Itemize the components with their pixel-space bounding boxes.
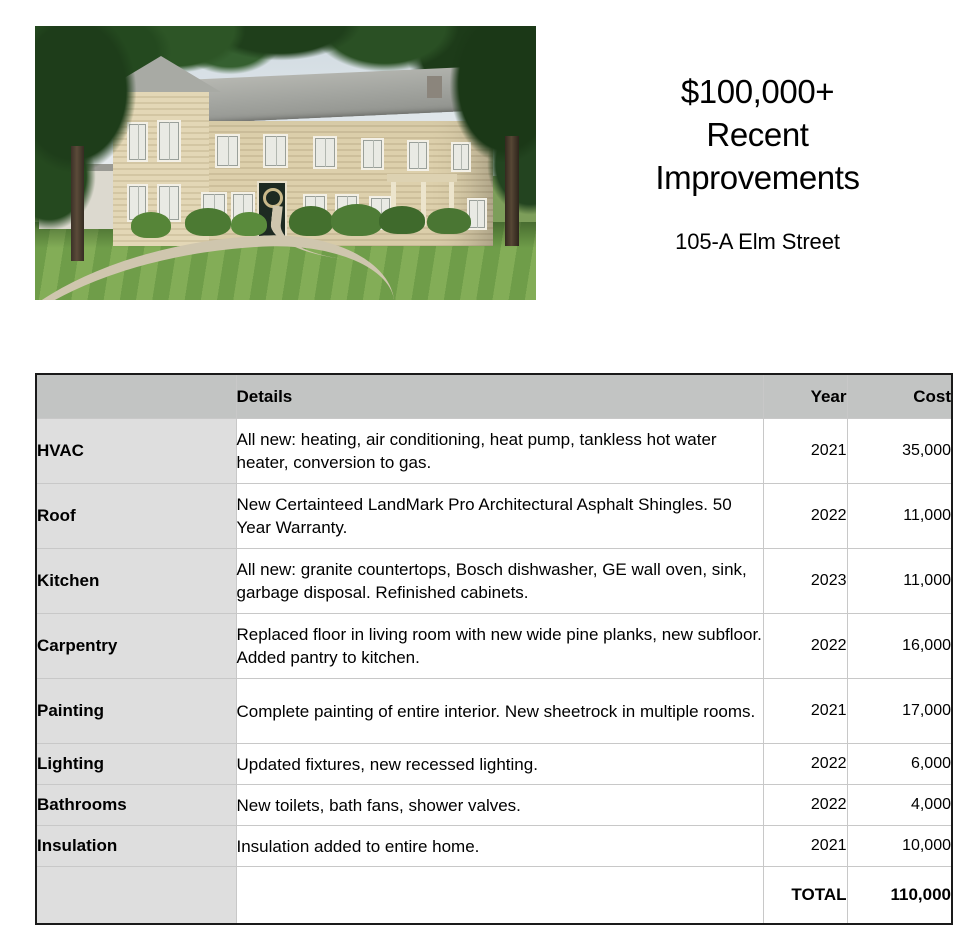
- cell-category: Painting: [36, 679, 236, 744]
- cell-details: Insulation added to entire home.: [236, 826, 763, 867]
- photo-window: [215, 134, 240, 168]
- cell-cost: 11,000: [847, 549, 952, 614]
- table-row: Lighting Updated fixtures, new recessed …: [36, 744, 952, 785]
- cell-category: Carpentry: [36, 614, 236, 679]
- cell-cost: 11,000: [847, 484, 952, 549]
- cell-cost: 16,000: [847, 614, 952, 679]
- cell-cost: 35,000: [847, 419, 952, 484]
- cell-cost: 6,000: [847, 744, 952, 785]
- cell-year: 2022: [763, 785, 847, 826]
- total-cost: 110,000: [847, 867, 952, 925]
- cell-year: 2022: [763, 614, 847, 679]
- table-row: Kitchen All new: granite countertops, Bo…: [36, 549, 952, 614]
- column-header-cost: Cost: [847, 374, 952, 419]
- cell-year: 2023: [763, 549, 847, 614]
- photo-tree-left: [35, 26, 154, 246]
- photo-window: [313, 136, 337, 169]
- table-row: Insulation Insulation added to entire ho…: [36, 826, 952, 867]
- column-header-year: Year: [763, 374, 847, 419]
- photo-window: [263, 134, 288, 168]
- table-body: HVAC All new: heating, air conditioning,…: [36, 419, 952, 925]
- photo-window: [361, 138, 384, 170]
- cell-year: 2022: [763, 744, 847, 785]
- cell-cost: 10,000: [847, 826, 952, 867]
- table-total-row: TOTAL 110,000: [36, 867, 952, 925]
- table-row: Roof New Certainteed LandMark Pro Archit…: [36, 484, 952, 549]
- photo-shrub: [231, 212, 267, 236]
- photo-window: [407, 140, 429, 171]
- cell-details: Replaced floor in living room with new w…: [236, 614, 763, 679]
- cell-year: 2021: [763, 419, 847, 484]
- cell-year: 2021: [763, 826, 847, 867]
- column-header-details: Details: [236, 374, 763, 419]
- table-row: Painting Complete painting of entire int…: [36, 679, 952, 744]
- cell-cost: 4,000: [847, 785, 952, 826]
- property-address: 105-A Elm Street: [560, 228, 955, 256]
- cell-category: Bathrooms: [36, 785, 236, 826]
- cell-details: Updated fixtures, new recessed lighting.: [236, 744, 763, 785]
- cell-cost: 17,000: [847, 679, 952, 744]
- cell-year: 2022: [763, 484, 847, 549]
- heading-block: $100,000+ Recent Improvements 105-A Elm …: [560, 70, 955, 256]
- photo-tree-right: [435, 26, 536, 229]
- cell-year: 2021: [763, 679, 847, 744]
- cell-details: All new: granite countertops, Bosch dish…: [236, 549, 763, 614]
- cell-category: Lighting: [36, 744, 236, 785]
- column-header-category: [36, 374, 236, 419]
- cell-details: Complete painting of entire interior. Ne…: [236, 679, 763, 744]
- total-label: TOTAL: [763, 867, 847, 925]
- table-row: HVAC All new: heating, air conditioning,…: [36, 419, 952, 484]
- table-header: Details Year Cost: [36, 374, 952, 419]
- page-title: $100,000+ Recent Improvements: [560, 70, 955, 199]
- table-header-row: Details Year Cost: [36, 374, 952, 419]
- cell-category: Insulation: [36, 826, 236, 867]
- photo-tree-trunk-left: [71, 146, 84, 261]
- cell-category: HVAC: [36, 419, 236, 484]
- cell-details-empty: [236, 867, 763, 925]
- cell-category-empty: [36, 867, 236, 925]
- cell-category: Roof: [36, 484, 236, 549]
- improvements-table: Details Year Cost HVAC All new: heating,…: [35, 373, 953, 925]
- photo-tree-trunk-right: [505, 136, 519, 246]
- photo-window: [157, 120, 181, 162]
- cell-category: Kitchen: [36, 549, 236, 614]
- cell-details: New toilets, bath fans, shower valves.: [236, 785, 763, 826]
- cell-details: All new: heating, air conditioning, heat…: [236, 419, 763, 484]
- house-front-exterior-photo: [35, 26, 536, 300]
- header-section: $100,000+ Recent Improvements 105-A Elm …: [0, 0, 980, 330]
- photo-shrub: [185, 208, 231, 236]
- table-row: Carpentry Replaced floor in living room …: [36, 614, 952, 679]
- table-row: Bathrooms New toilets, bath fans, shower…: [36, 785, 952, 826]
- cell-details: New Certainteed LandMark Pro Architectur…: [236, 484, 763, 549]
